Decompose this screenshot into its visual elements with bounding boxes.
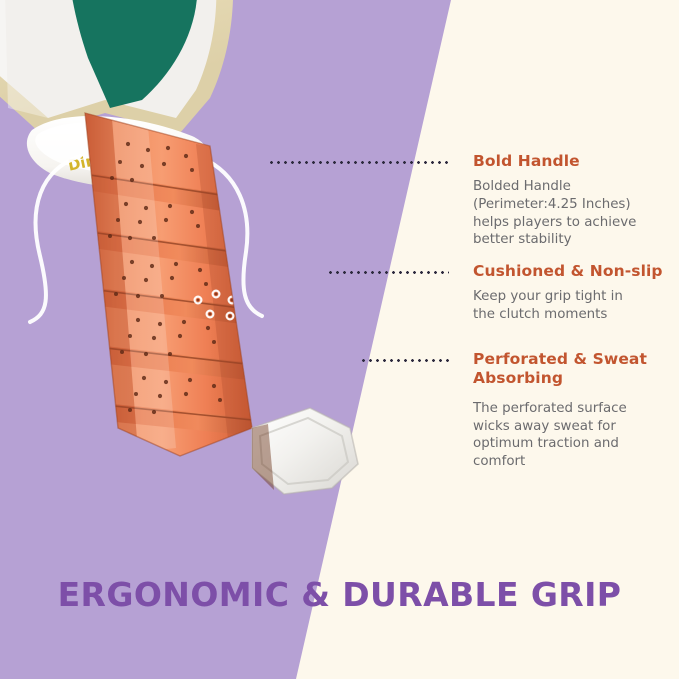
- callout-body: Keep your grip tight in the clutch momen…: [473, 288, 673, 324]
- callout-body: The perforated surface wicks away sweat …: [473, 400, 673, 471]
- callout-heading: Cushioned & Non-slip: [473, 262, 673, 281]
- callout-perforated-sweat-absorbing: Perforated & Sweat Absorbing The perfora…: [473, 350, 673, 471]
- paddle-butt-cap: [252, 408, 358, 494]
- paddle-head: [0, 0, 233, 133]
- callout-heading: Bold Handle: [473, 152, 673, 171]
- paddle-grip: [70, 113, 254, 456]
- callout-body: Bolded Handle (Perimeter:4.25 Inches) he…: [473, 178, 673, 249]
- callout-bold-handle: Bold Handle Bolded Handle (Perimeter:4.2…: [473, 152, 673, 249]
- infographic-canvas: Dink for Fun: [0, 0, 679, 679]
- pickleball-paddle-illustration: Dink for Fun: [0, 0, 440, 568]
- leader-line-bold-handle: [268, 161, 449, 164]
- leader-line-cushioned: [327, 271, 449, 274]
- callout-heading: Perforated & Sweat Absorbing: [473, 350, 673, 388]
- callout-cushioned-non-slip: Cushioned & Non-slip Keep your grip tigh…: [473, 262, 673, 324]
- leader-line-perforated: [360, 359, 449, 362]
- bottom-headline: ERGONOMIC & DURABLE GRIP: [0, 575, 679, 614]
